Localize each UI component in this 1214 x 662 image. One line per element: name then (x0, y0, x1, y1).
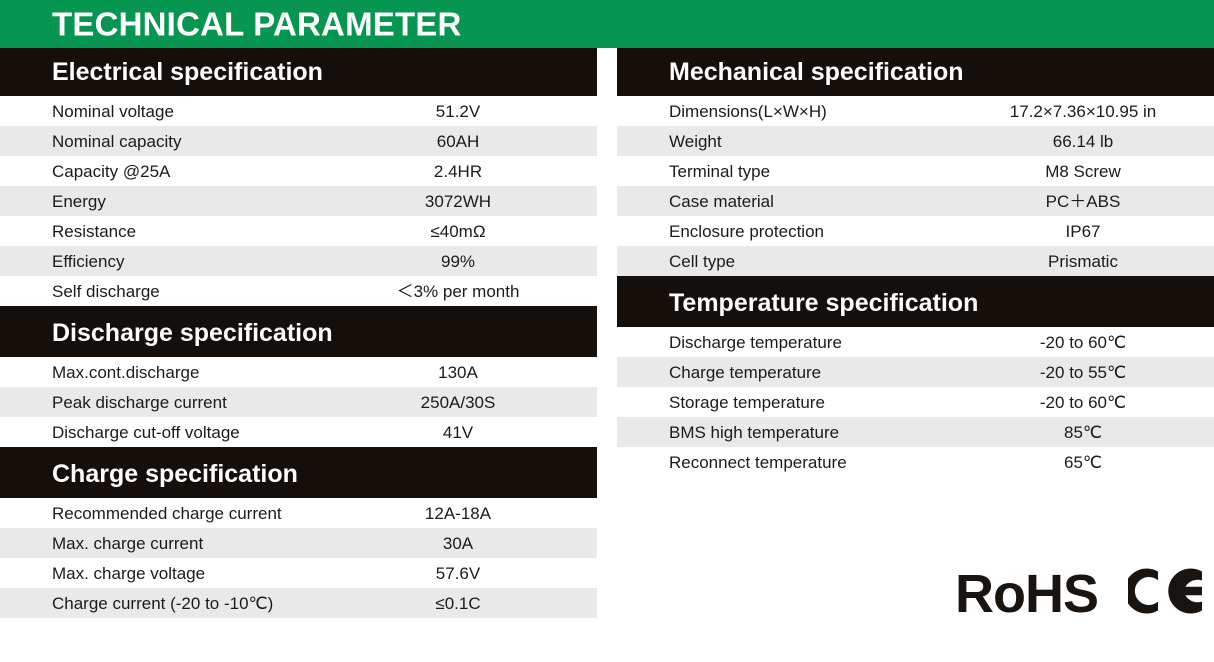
certification-marks: RoHS (955, 565, 1206, 622)
spec-row: Capacity @25A2.4HR (0, 156, 597, 186)
spec-row: Weight66.14 lb (617, 126, 1214, 156)
ce-logo (1128, 565, 1206, 622)
spec-value-nominal-voltage: 51.2V (436, 103, 480, 120)
spec-row: Charge current (-20 to -10℃)≤0.1C (0, 588, 597, 618)
spec-row: Max.cont.discharge130A (0, 357, 597, 387)
spec-label-efficiency: Efficiency (0, 253, 124, 270)
spec-value-dimensions-l-w-h: 17.2×7.36×10.95 in (1010, 103, 1157, 120)
spec-label-storage-temperature: Storage temperature (617, 394, 825, 411)
section-header-temperature-specification: Temperature specification (617, 279, 1214, 327)
spec-row: Efficiency99% (0, 246, 597, 276)
spec-value-energy: 3072WH (425, 193, 491, 210)
spec-label-self-discharge: Self discharge (0, 283, 160, 300)
spec-row: Nominal voltage51.2V (0, 96, 597, 126)
spec-row: Storage temperature-20 to 60℃ (617, 387, 1214, 417)
page-title: TECHNICAL PARAMETER (52, 8, 462, 41)
spec-value-storage-temperature: -20 to 60℃ (1040, 394, 1126, 411)
spec-label-recommended-charge-current: Recommended charge current (0, 505, 282, 522)
spec-row: Nominal capacity60AH (0, 126, 597, 156)
spec-row: Energy3072WH (0, 186, 597, 216)
spec-label-terminal-type: Terminal type (617, 163, 770, 180)
section-header-discharge-specification: Discharge specification (0, 309, 597, 357)
spec-row: Reconnect temperature65℃ (617, 447, 1214, 477)
spec-row: Cell typePrismatic (617, 246, 1214, 276)
section-header-mechanical-specification: Mechanical specification (617, 48, 1214, 96)
spec-label-case-material: Case material (617, 193, 774, 210)
spec-row: Discharge cut-off voltage41V (0, 417, 597, 447)
spec-row: Recommended charge current12A-18A (0, 498, 597, 528)
spec-label-weight: Weight (617, 133, 722, 150)
spec-label-dimensions-l-w-h: Dimensions(L×W×H) (617, 103, 827, 120)
left-spec-column: Electrical specificationNominal voltage5… (0, 48, 597, 618)
spec-value-self-discharge: ＜3% per month (397, 283, 520, 300)
spec-table-charge-specification: Recommended charge current12A-18AMax. ch… (0, 498, 597, 618)
spec-row: Terminal typeM8 Screw (617, 156, 1214, 186)
spec-label-nominal-capacity: Nominal capacity (0, 133, 181, 150)
spec-value-terminal-type: M8 Screw (1045, 163, 1121, 180)
spec-value-recommended-charge-current: 12A-18A (425, 505, 491, 522)
spec-row: Resistance≤40mΩ (0, 216, 597, 246)
spec-value-enclosure-protection: IP67 (1066, 223, 1101, 240)
spec-value-efficiency: 99% (441, 253, 475, 270)
spec-value-weight: 66.14 lb (1053, 133, 1114, 150)
section-header-label: Electrical specification (0, 60, 323, 85)
spec-label-max-cont-discharge: Max.cont.discharge (0, 364, 199, 381)
spec-label-capacity-25a: Capacity @25A (0, 163, 170, 180)
spec-value-cell-type: Prismatic (1048, 253, 1118, 270)
page-banner: TECHNICAL PARAMETER (0, 0, 1214, 48)
spec-value-bms-high-temperature: 85℃ (1064, 424, 1102, 441)
spec-label-resistance: Resistance (0, 223, 136, 240)
spec-value-charge-temperature: -20 to 55℃ (1040, 364, 1126, 381)
spec-row: Dimensions(L×W×H)17.2×7.36×10.95 in (617, 96, 1214, 126)
rohs-logo: RoHS (955, 567, 1098, 621)
spec-label-peak-discharge-current: Peak discharge current (0, 394, 227, 411)
section-header-label: Temperature specification (617, 291, 978, 316)
spec-table-discharge-specification: Max.cont.discharge130APeak discharge cur… (0, 357, 597, 450)
spec-label-charge-temperature: Charge temperature (617, 364, 821, 381)
spec-value-max-charge-current: 30A (443, 535, 473, 552)
spec-row: Discharge temperature-20 to 60℃ (617, 327, 1214, 357)
spec-label-max-charge-voltage: Max. charge voltage (0, 565, 205, 582)
spec-table-mechanical-specification: Dimensions(L×W×H)17.2×7.36×10.95 inWeigh… (617, 96, 1214, 279)
spec-row: Charge temperature-20 to 55℃ (617, 357, 1214, 387)
spec-value-max-charge-voltage: 57.6V (436, 565, 480, 582)
section-header-charge-specification: Charge specification (0, 450, 597, 498)
spec-label-enclosure-protection: Enclosure protection (617, 223, 824, 240)
section-header-label: Charge specification (0, 462, 298, 487)
spec-label-cell-type: Cell type (617, 253, 735, 270)
spec-value-reconnect-temperature: 65℃ (1064, 454, 1102, 471)
spec-value-capacity-25a: 2.4HR (434, 163, 482, 180)
spec-value-max-cont-discharge: 130A (438, 364, 478, 381)
spec-label-max-charge-current: Max. charge current (0, 535, 203, 552)
section-header-label: Discharge specification (0, 321, 333, 346)
right-spec-column: Mechanical specificationDimensions(L×W×H… (617, 48, 1214, 477)
spec-row: Max. charge current30A (0, 528, 597, 558)
spec-table-electrical-specification: Nominal voltage51.2VNominal capacity60AH… (0, 96, 597, 309)
spec-label-nominal-voltage: Nominal voltage (0, 103, 174, 120)
spec-table-temperature-specification: Discharge temperature-20 to 60℃Charge te… (617, 327, 1214, 477)
spec-value-nominal-capacity: 60AH (437, 133, 480, 150)
spec-value-discharge-cut-off-voltage: 41V (443, 424, 473, 441)
section-header-label: Mechanical specification (617, 60, 964, 85)
spec-value-case-material: PC＋ABS (1046, 193, 1121, 210)
spec-row: Peak discharge current250A/30S (0, 387, 597, 417)
spec-row: Max. charge voltage57.6V (0, 558, 597, 588)
spec-label-charge-current-20-to-10: Charge current (-20 to -10℃) (0, 595, 273, 612)
spec-row: Self discharge＜3% per month (0, 276, 597, 306)
spec-value-discharge-temperature: -20 to 60℃ (1040, 334, 1126, 351)
spec-label-discharge-temperature: Discharge temperature (617, 334, 842, 351)
spec-label-bms-high-temperature: BMS high temperature (617, 424, 839, 441)
spec-label-discharge-cut-off-voltage: Discharge cut-off voltage (0, 424, 240, 441)
spec-value-charge-current-20-to-10: ≤0.1C (435, 595, 480, 612)
spec-row: BMS high temperature85℃ (617, 417, 1214, 447)
spec-value-resistance: ≤40mΩ (430, 223, 485, 240)
spec-row: Enclosure protectionIP67 (617, 216, 1214, 246)
spec-label-reconnect-temperature: Reconnect temperature (617, 454, 847, 471)
spec-value-peak-discharge-current: 250A/30S (421, 394, 496, 411)
spec-row: Case materialPC＋ABS (617, 186, 1214, 216)
section-header-electrical-specification: Electrical specification (0, 48, 597, 96)
spec-label-energy: Energy (0, 193, 106, 210)
